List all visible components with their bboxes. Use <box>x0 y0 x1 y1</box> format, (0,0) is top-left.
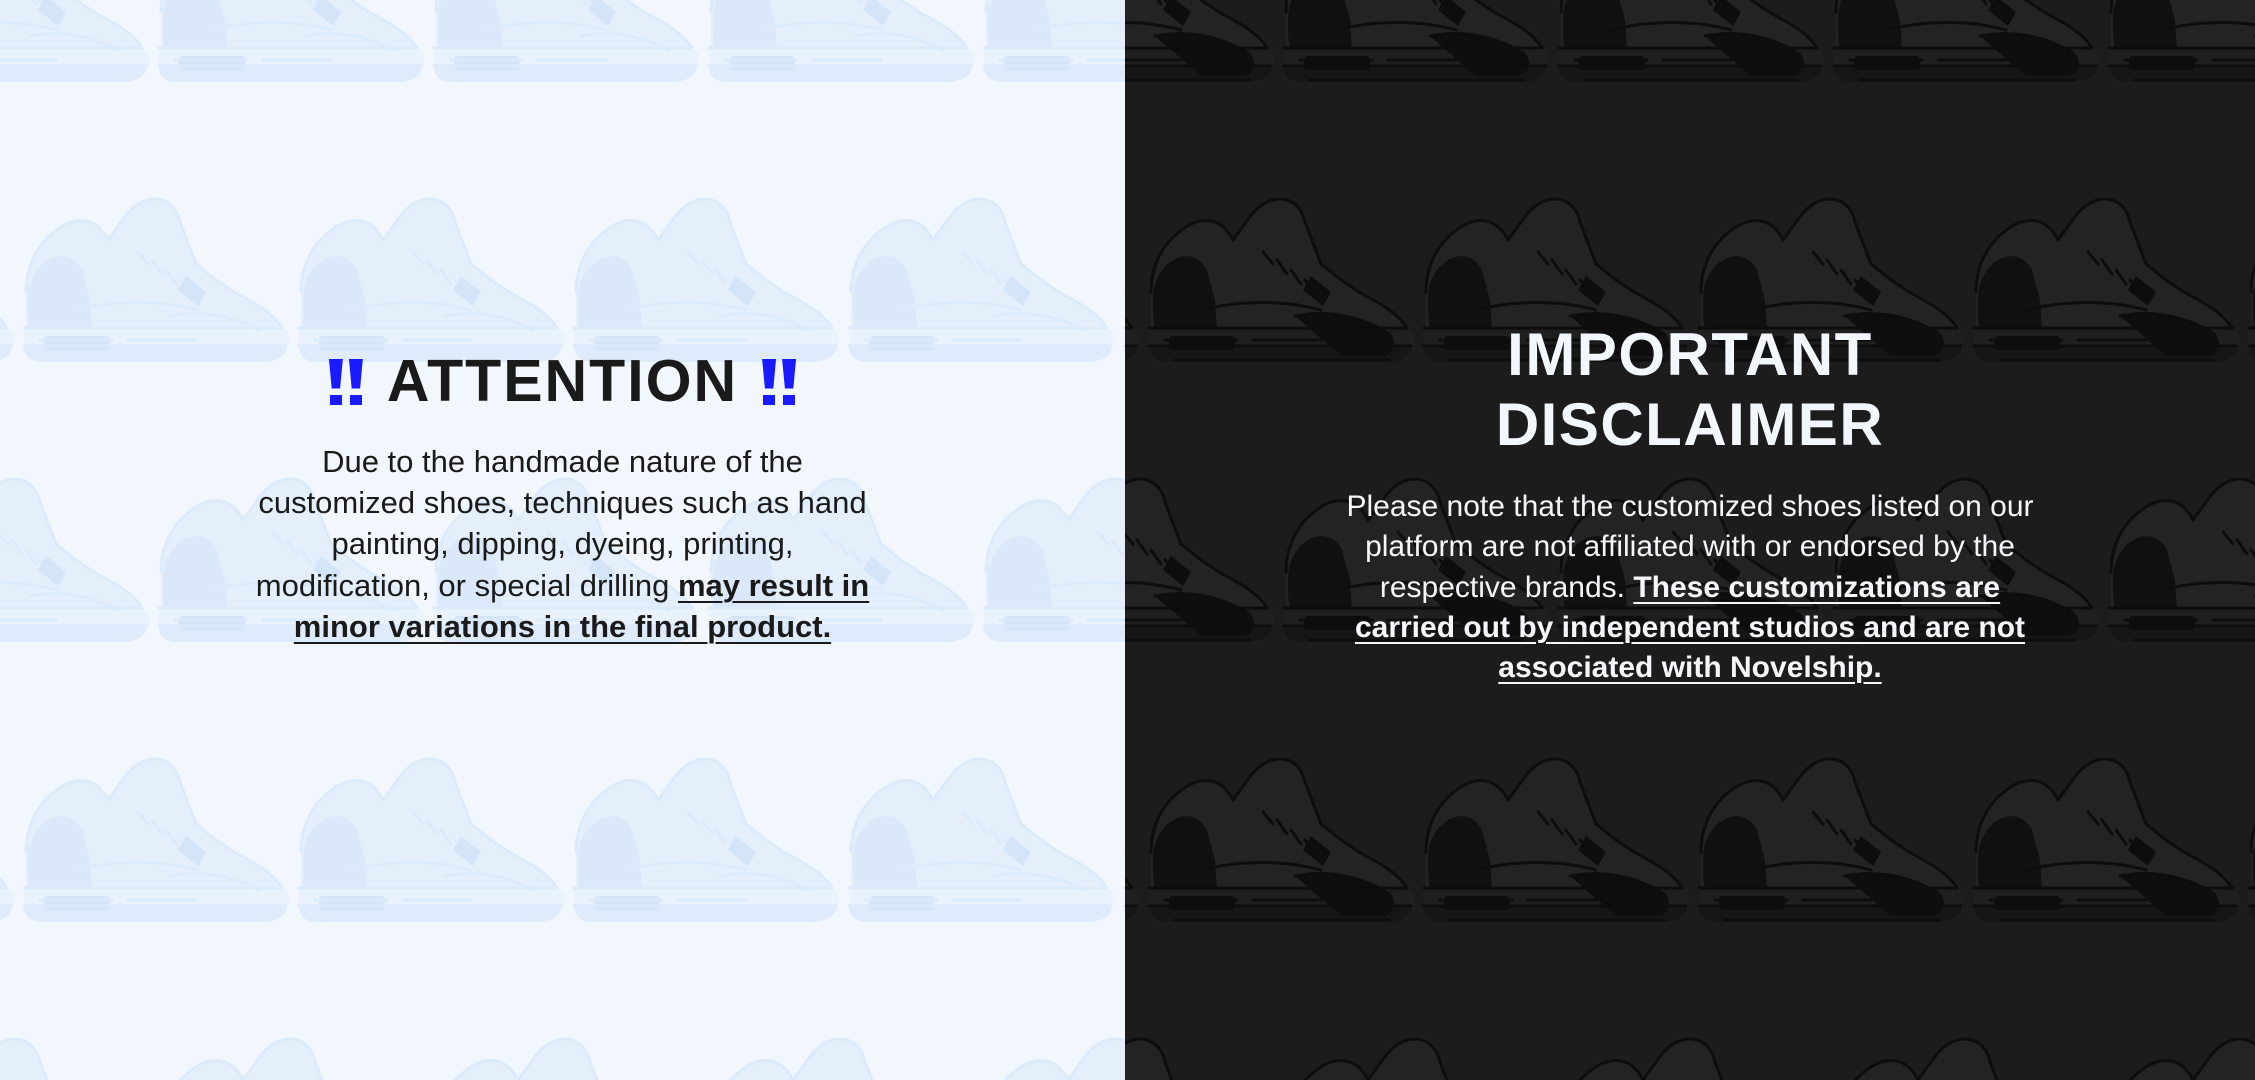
attention-heading: ATTENTION <box>327 352 798 411</box>
disclaimer-body: Please note that the customized shoes li… <box>1340 487 2040 688</box>
attention-panel: ATTENTION Due to the handmade nature of … <box>0 0 1125 1080</box>
attention-body: Due to the handmade nature of the custom… <box>253 441 873 647</box>
attention-heading-text: ATTENTION <box>387 352 738 411</box>
disclaimer-heading: IMPORTANT DISCLAIMER <box>1496 320 1884 459</box>
double-exclamation-icon-right <box>760 359 798 405</box>
disclaimer-panel: IMPORTANT DISCLAIMER Please note that th… <box>1125 0 2255 1080</box>
disclaimer-heading-line-2: DISCLAIMER <box>1496 390 1884 460</box>
disclaimer-heading-line-1: IMPORTANT <box>1496 320 1884 390</box>
double-exclamation-icon-left <box>327 359 365 405</box>
disclaimer-banner: ATTENTION Due to the handmade nature of … <box>0 0 2255 1080</box>
